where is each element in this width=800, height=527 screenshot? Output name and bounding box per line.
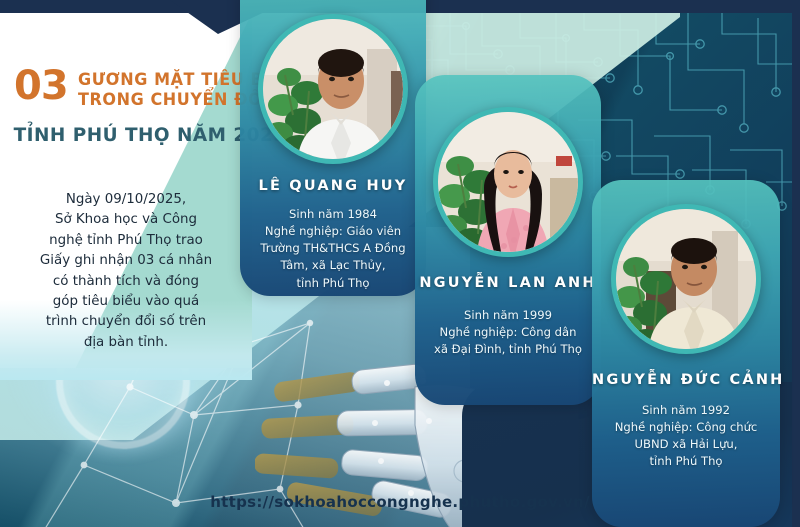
person-card-2: NGUYỄN LAN ANH Sinh năm 1999Nghề nghiệp:…	[415, 75, 601, 405]
person-card-detail-line: Tâm, xã Lạc Thủy,	[240, 257, 426, 274]
person-card-detail-line: Nghề nghiệp: Công chức	[592, 419, 780, 436]
footer-website-url[interactable]: https://sokhoahoccongnghe.phutho.gov.vn/	[0, 493, 800, 511]
person-card-1-details: Sinh năm 1984Nghề nghiệp: Giáo viênTrườn…	[240, 206, 426, 292]
person-card-1: LÊ QUANG HUY Sinh năm 1984Nghề nghiệp: G…	[240, 0, 426, 296]
intro-paragraph-line: Ngày 09/10/2025,	[14, 190, 238, 210]
intro-paragraph: Ngày 09/10/2025,Sở Khoa học và Côngnghệ …	[14, 190, 238, 353]
intro-paragraph-line: Sở Khoa học và Công	[14, 210, 238, 230]
portrait-woman-pink-ao-dai-icon	[438, 112, 578, 252]
person-card-1-name: LÊ QUANG HUY	[240, 178, 426, 194]
right-navy-rail	[792, 0, 800, 527]
headline-province-year: TỈNH PHÚ THỌ NĂM 2025	[0, 124, 244, 146]
headline-block: 03 GƯƠNG MẶT TIÊU BIỂU TRONG CHUYỂN ĐỔI …	[0, 68, 252, 146]
person-card-detail-line: Sinh năm 1999	[415, 307, 601, 324]
headline-main-row: 03 GƯƠNG MẶT TIÊU BIỂU TRONG CHUYỂN ĐỔI …	[0, 68, 252, 110]
person-card-3-details: Sinh năm 1992Nghề nghiệp: Công chứcUBND …	[592, 402, 780, 471]
intro-paragraph-line: Giấy ghi nhận 03 cá nhân	[14, 251, 238, 271]
person-card-3-photo	[611, 204, 761, 354]
intro-paragraph-line: địa bàn tỉnh.	[14, 333, 238, 353]
person-card-detail-line: xã Đại Đình, tỉnh Phú Thọ	[415, 341, 601, 358]
person-card-2-details: Sinh năm 1999Nghề nghiệp: Công dânxã Đại…	[415, 307, 601, 358]
infographic-poster: 03 GƯƠNG MẶT TIÊU BIỂU TRONG CHUYỂN ĐỔI …	[0, 0, 800, 527]
portrait-man-white-shirt-icon	[263, 19, 403, 159]
intro-paragraph-line: nghệ tỉnh Phú Thọ trao	[14, 231, 238, 251]
person-card-detail-line: Trường TH&THCS A Đồng	[240, 240, 426, 257]
person-card-detail-line: Sinh năm 1992	[592, 402, 780, 419]
person-card-detail-line: Sinh năm 1984	[240, 206, 426, 223]
portrait-man-cream-shirt-icon	[616, 209, 756, 349]
person-card-3-name: NGUYỄN ĐỨC CẢNH	[592, 372, 780, 388]
person-card-detail-line: Nghề nghiệp: Công dân	[415, 324, 601, 341]
intro-paragraph-line: trình chuyển đổi số trên	[14, 312, 238, 332]
person-card-detail-line: Nghề nghiệp: Giáo viên	[240, 223, 426, 240]
person-card-2-photo	[433, 107, 583, 257]
person-card-detail-line: tỉnh Phú Thọ	[592, 453, 780, 470]
person-card-3: NGUYỄN ĐỨC CẢNH Sinh năm 1992Nghề nghiệp…	[592, 180, 780, 527]
person-card-detail-line: UBND xã Hải Lựu,	[592, 436, 780, 453]
person-card-2-name: NGUYỄN LAN ANH	[415, 275, 601, 291]
intro-paragraph-line: có thành tích và đóng	[14, 272, 238, 292]
intro-paragraph-line: góp tiêu biểu vào quá	[14, 292, 238, 312]
headline-count: 03	[14, 68, 68, 105]
person-card-1-photo	[258, 14, 408, 164]
person-card-detail-line: tỉnh Phú Thọ	[240, 275, 426, 292]
